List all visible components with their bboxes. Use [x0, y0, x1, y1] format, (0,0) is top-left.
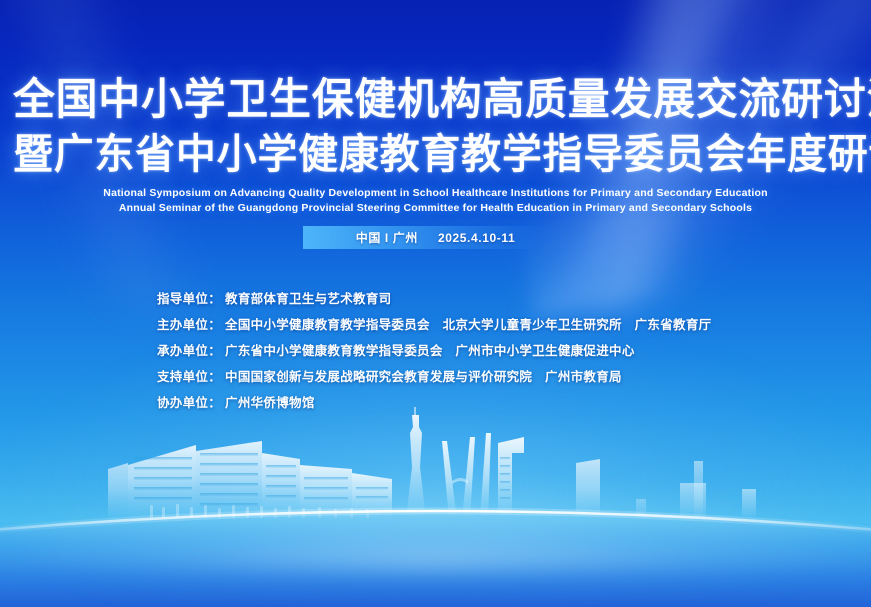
organizer-value: 教育部体育卫生与艺术教育司: [225, 288, 391, 307]
organizer-label: 主办单位：: [157, 314, 221, 333]
organizer-value: 广东省中小学健康教育教学指导委员会 广州市中小学卫生健康促进中心: [225, 340, 635, 359]
distant-towers-silhouette: [576, 459, 756, 519]
poster-subtitle-en-line-1: National Symposium on Advancing Quality …: [0, 186, 871, 201]
poster-title-line-2: 暨广东省中小学健康教育教学指导委员会年度研讨活动: [13, 131, 858, 177]
organizer-label: 支持单位：: [157, 366, 221, 385]
organizer-label: 指导单位：: [157, 288, 221, 307]
event-info-badge-wrapper: 中国 I 广州 2025.4.10-11: [0, 226, 871, 249]
organizer-value: 中国国家创新与发展战略研究会教育发展与评价研究院 广州市教育局: [225, 366, 622, 385]
stepped-tower-silhouette: [498, 437, 524, 519]
organizer-label: 承办单位：: [157, 340, 221, 359]
horizon-haze-glow: [0, 479, 871, 569]
canton-tower-silhouette: [406, 407, 426, 519]
guangzhou-skyline-silhouette: [0, 407, 871, 607]
event-location: 中国 I 广州: [356, 229, 418, 246]
event-date: 2025.4.10-11: [438, 231, 515, 245]
organizer-list: 指导单位： 教育部体育卫生与艺术教育司 主办单位： 全国中小学健康教育教学指导委…: [157, 288, 711, 418]
poster-header: 全国中小学卫生保健机构高质量发展交流研讨活动 暨广东省中小学健康教育教学指导委员…: [0, 0, 871, 216]
poster-subtitle-en-line-2: Annual Seminar of the Guangdong Provinci…: [0, 201, 871, 216]
horizon-arc-glow: [0, 477, 871, 607]
conference-poster: 全国中小学卫生保健机构高质量发展交流研讨活动 暨广东省中小学健康教育教学指导委员…: [0, 0, 871, 607]
organizer-value: 全国中小学健康教育教学指导委员会 北京大学儿童青少年卫生研究所 广东省教育厅: [225, 314, 711, 333]
organizer-row-supporter: 支持单位： 中国国家创新与发展战略研究会教育发展与评价研究院 广州市教育局: [157, 366, 711, 392]
organizer-row-host: 主办单位： 全国中小学健康教育教学指导委员会 北京大学儿童青少年卫生研究所 广东…: [157, 314, 711, 340]
school-building-silhouette: [108, 441, 392, 519]
organizer-row-organizer: 承办单位： 广东省中小学健康教育教学指导委员会 广州市中小学卫生健康促进中心: [157, 340, 711, 366]
arc-towers-silhouette: [442, 433, 491, 519]
organizer-value: 广州华侨博物馆: [225, 392, 315, 411]
organizer-row-guidance: 指导单位： 教育部体育卫生与艺术教育司: [157, 288, 711, 314]
organizer-label: 协办单位：: [157, 392, 221, 411]
event-info-badge: 中国 I 广州 2025.4.10-11: [303, 226, 568, 249]
organizer-row-coorganizer: 协办单位： 广州华侨博物馆: [157, 392, 711, 418]
poster-title-line-1: 全国中小学卫生保健机构高质量发展交流研讨活动: [13, 76, 858, 124]
